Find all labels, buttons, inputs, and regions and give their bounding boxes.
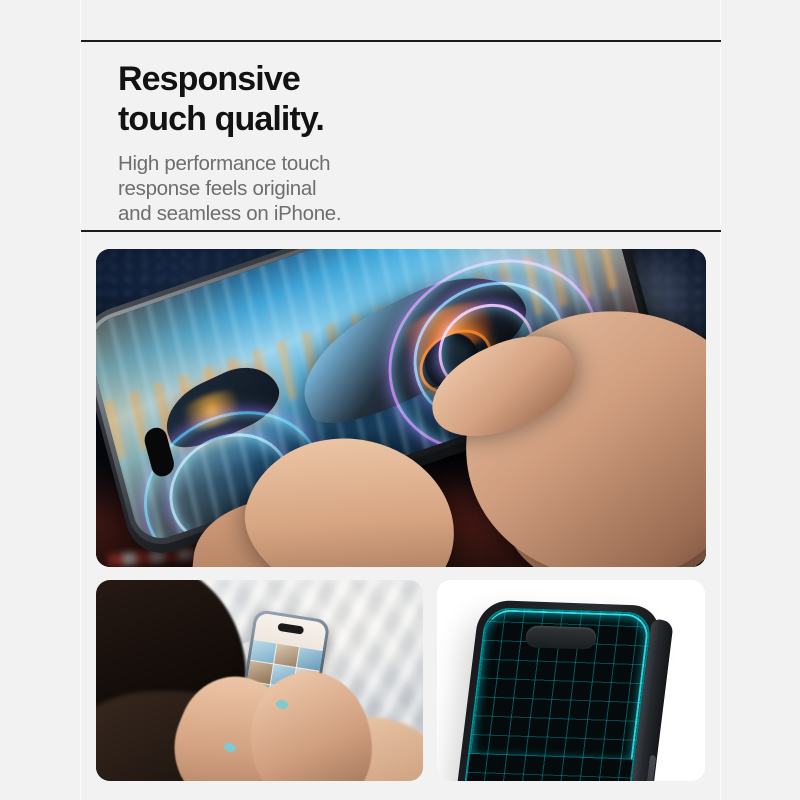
feature-text-block: Responsive touch quality. High performan…	[81, 40, 721, 232]
bedroom-artwork	[96, 580, 423, 781]
product-feature-page: Responsive touch quality. High performan…	[0, 0, 800, 800]
screen-protector-grid-photo	[437, 580, 705, 781]
grid-phone-artwork	[437, 580, 705, 781]
page-title: Responsive touch quality.	[118, 59, 721, 139]
photo-thumbnail	[274, 644, 300, 667]
photo-thumbnail	[297, 648, 323, 671]
photo-thumbnail	[250, 640, 276, 663]
dynamic-island	[525, 625, 598, 649]
hero-artwork	[96, 249, 706, 567]
page-subtitle: High performance touch response feels or…	[118, 151, 721, 226]
grid-iphone	[449, 600, 662, 781]
iphone-screen	[456, 607, 652, 781]
hero-gaming-photo	[96, 249, 706, 567]
bedroom-scrolling-photo	[96, 580, 423, 781]
